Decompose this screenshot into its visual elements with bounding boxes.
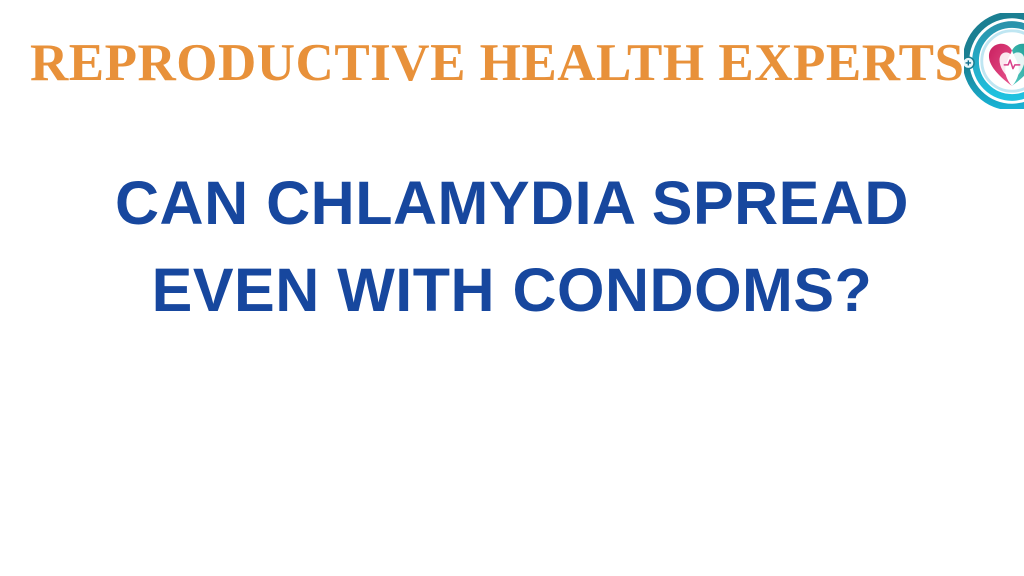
site-header: REPRODUCTIVE HEALTH EXPERTS — [0, 0, 1024, 118]
slide-title: CAN CHLAMYDIA SPREAD EVEN WITH CONDOMS? — [0, 160, 1024, 334]
slide-title-line-2: EVEN WITH CONDOMS? — [0, 247, 1024, 334]
slide-body-blank-area — [0, 340, 1024, 576]
heart-circle-logo-icon — [964, 13, 1024, 109]
brand-logo — [964, 13, 1024, 109]
slide-canvas: REPRODUCTIVE HEALTH EXPERTS — [0, 0, 1024, 576]
slide-title-line-1: CAN CHLAMYDIA SPREAD — [0, 160, 1024, 247]
brand-wordmark: REPRODUCTIVE HEALTH EXPERTS — [30, 37, 964, 90]
